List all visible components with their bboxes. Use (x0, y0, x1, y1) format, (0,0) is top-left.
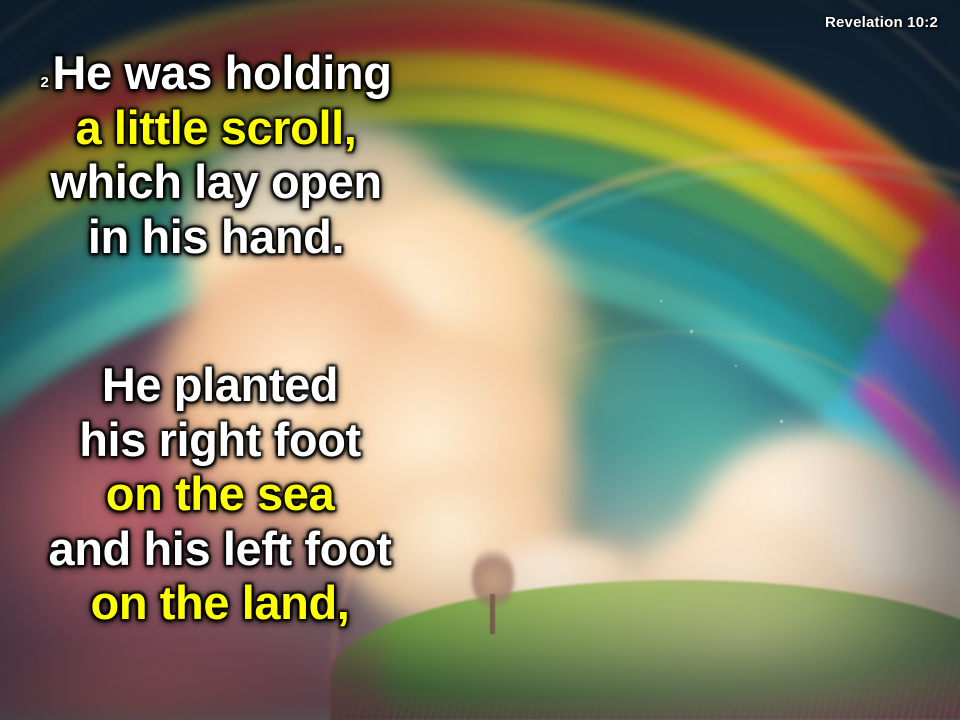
verse-line-text: He was holding (52, 46, 391, 99)
verse-line: in his hand. (0, 210, 432, 265)
verse-line: on the sea (0, 467, 440, 522)
verse-line: and his left foot (0, 522, 440, 577)
scripture-reference: Revelation 10:2 (825, 14, 938, 31)
light-speck (735, 365, 737, 367)
verse-line: on the land, (0, 576, 440, 631)
verse-line: He planted (0, 358, 440, 413)
lone-tree (470, 548, 516, 634)
verse-number: 2 (40, 74, 48, 91)
tree-trunk (490, 594, 495, 634)
light-speck (690, 330, 693, 333)
verse-text-block-1: 2He was holding a little scroll, which l… (0, 46, 432, 264)
verse-line: his right foot (0, 413, 440, 468)
verse-text-block-2: He planted his right foot on the sea and… (0, 358, 440, 631)
verse-line: which lay open (0, 155, 432, 210)
light-speck (780, 420, 783, 423)
verse-line: a little scroll, (0, 101, 432, 156)
light-speck (660, 300, 662, 302)
verse-line: 2He was holding (0, 46, 432, 101)
bible-verse-slide: Revelation 10:2 2He was holding a little… (0, 0, 960, 720)
